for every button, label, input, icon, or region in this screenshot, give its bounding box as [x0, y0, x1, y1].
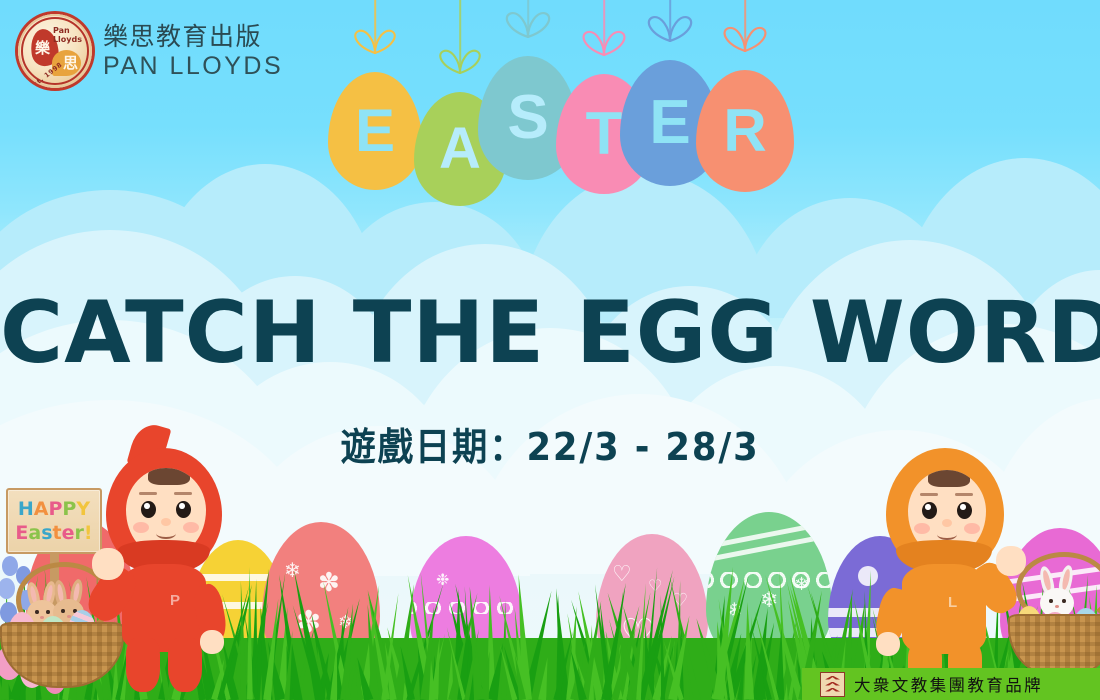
dazhong-group-icon: [820, 672, 845, 697]
seal-char-le: 樂: [35, 41, 50, 56]
egg-letter: R: [723, 101, 766, 161]
egg-letter: E: [649, 92, 690, 154]
egg-bow-icon: [718, 23, 773, 52]
mascot-chest-letter-l: L: [948, 594, 957, 611]
egg-bow-icon: [500, 8, 556, 38]
partner-badge-label: 大衆文教集團教育品牌: [854, 672, 1043, 696]
brand-name-en: PAN LLOYDS: [103, 54, 283, 79]
mascot-basket-hand: [996, 546, 1026, 576]
page-title: CATCH THE EGG WORD: [0, 283, 1100, 383]
event-date-subtitle: 遊戲日期：22/3 - 28/3: [39, 416, 1062, 471]
mascot-chest-letter-p: P: [170, 592, 180, 609]
egg-letter: E: [355, 101, 395, 161]
egg-body: R: [696, 70, 794, 192]
egg-body: E: [328, 72, 422, 190]
egg-letter: T: [586, 104, 623, 164]
partner-badge[interactable]: 大衆文教集團教育品牌: [802, 668, 1100, 700]
mascot-lloyds-orange: L: [872, 434, 1012, 692]
mascot-waving-hand: [92, 548, 124, 580]
egg-bow-icon: [349, 26, 402, 54]
pan-lloyds-seal-icon: 樂 思 Pan Lloyds Est. 1998: [18, 14, 92, 88]
seal-pan-lloyds-text: Pan Lloyds: [53, 27, 82, 44]
egg-bow-icon: [577, 27, 631, 56]
brand-logo[interactable]: 樂 思 Pan Lloyds Est. 1998 樂思教育出版 PAN LLOY…: [18, 14, 283, 88]
sign-line-1: HAPPY: [18, 500, 90, 519]
egg-bow-icon: [642, 12, 698, 42]
easter-promo-banner: 樂 思 Pan Lloyds Est. 1998 樂思教育出版 PAN LLOY…: [0, 0, 1100, 700]
sign-line-2: Easter!: [15, 524, 92, 543]
egg-letter: S: [507, 87, 548, 149]
brand-name: 樂思教育出版 PAN LLOYDS: [103, 24, 283, 79]
egg-letter: A: [439, 120, 481, 178]
seal-char-si: 思: [63, 56, 78, 71]
brand-name-cn: 樂思教育出版: [103, 24, 283, 49]
egg-bow-icon: [434, 46, 486, 74]
